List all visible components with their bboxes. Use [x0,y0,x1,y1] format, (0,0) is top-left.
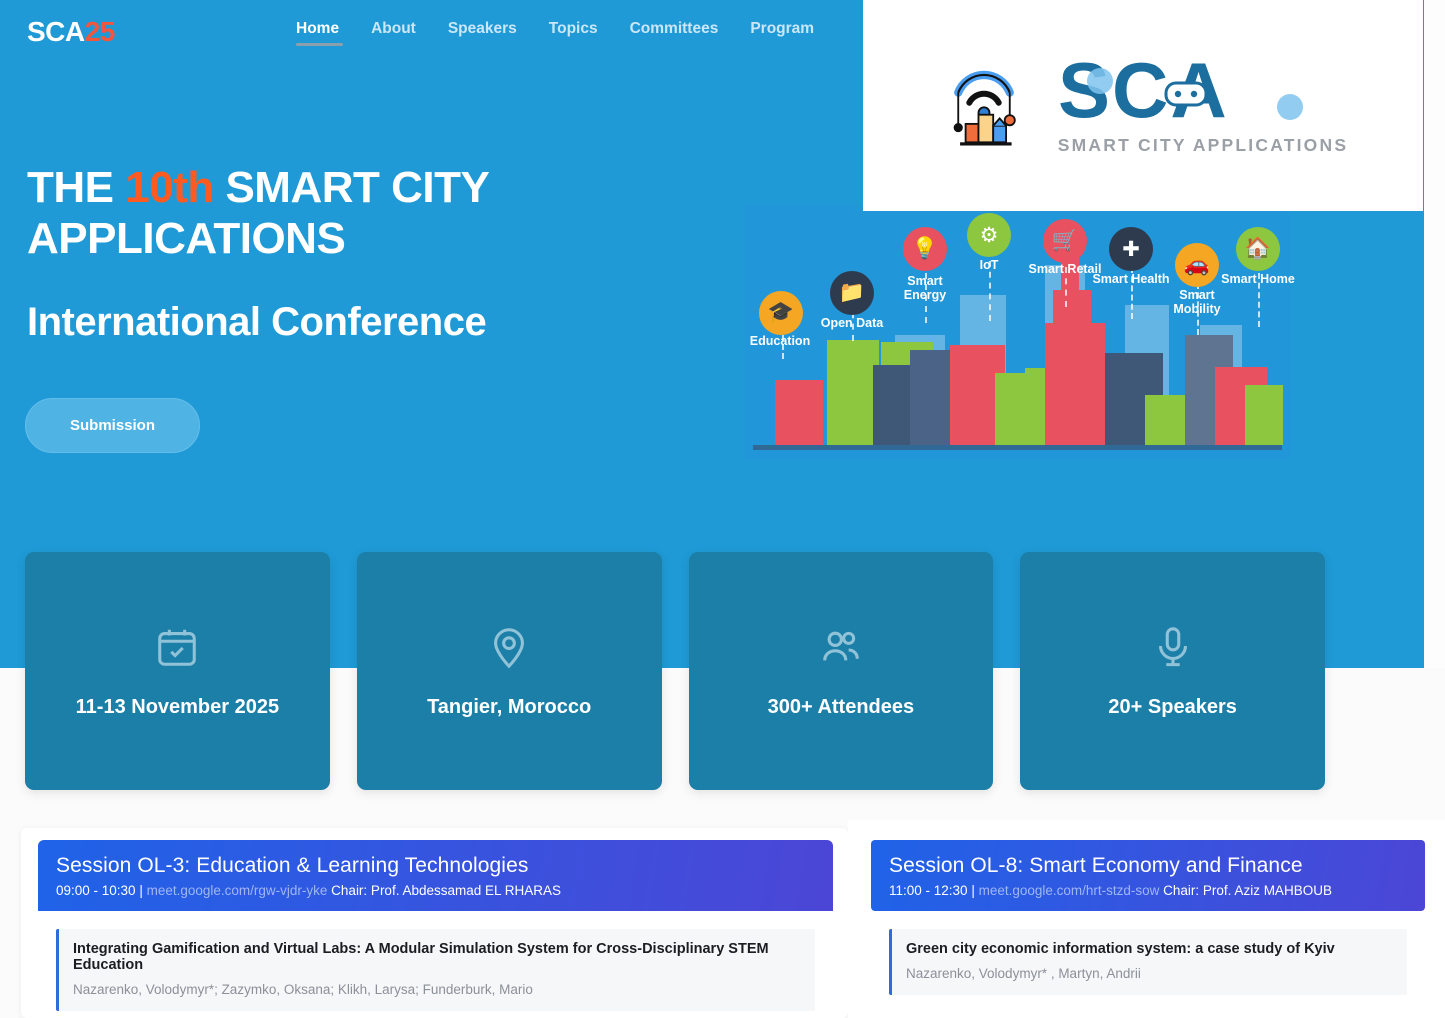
sca-wordmark-icon: SCA [1058,55,1348,133]
illustration-label-smart-mobility: Smart Mobility [1157,289,1237,317]
illustration-label-education: Education [740,335,820,349]
nav-list: Home About Speakers Topics Committees Pr… [296,20,846,46]
session-separator: | [968,883,979,898]
paper-authors: Nazarenko, Volodymyr*; Zazymko, Oksana; … [73,982,801,997]
session-panel-left: Session OL-3: Education & Learning Techn… [21,828,848,1018]
map-pin-icon [486,624,532,670]
session-time: 11:00 - 12:30 [889,883,968,898]
smart-city-wifi-icon [938,63,1030,148]
session-separator: | [136,883,147,898]
session-meta: 11:00 - 12:30 | meet.google.com/hrt-stzd… [889,883,1407,898]
paper-title: Integrating Gamification and Virtual Lab… [73,941,801,973]
illustration-label-smart-energy: Smart Energy [885,275,965,303]
session-header: Session OL-3: Education & Learning Techn… [38,840,833,911]
stats-row: 11-13 November 2025 Tangier, Morocco 300… [25,552,1325,792]
shopping-cart-icon: 🛒 [1043,219,1087,263]
session-meeting-link[interactable]: meet.google.com/rgw-vjdr-yke [147,883,328,898]
nav-item-home[interactable]: Home [296,20,359,46]
brand-logo[interactable]: SCA25 [27,16,115,48]
skyline-graphic [745,205,1290,460]
stat-card-speakers[interactable]: 20+ Speakers [1020,552,1325,790]
open-data-folder-icon: 📁 [830,271,874,315]
session-meeting-link[interactable]: meet.google.com/hrt-stzd-sow [979,883,1160,898]
medical-kit-icon: ✚ [1109,227,1153,271]
stat-card-dates[interactable]: 11-13 November 2025 [25,552,330,790]
nav-item-committees[interactable]: Committees [630,20,739,46]
session-title: Session OL-8: Smart Economy and Finance [889,854,1407,878]
session-header: Session OL-8: Smart Economy and Finance … [871,840,1425,911]
illustration-label-iot: IoT [949,259,1029,273]
sca-tagline: SMART CITY APPLICATIONS [1058,135,1348,156]
stat-card-location[interactable]: Tangier, Morocco [357,552,662,790]
brand-main-text: SCA [27,16,85,47]
illustration-label-smart-health: Smart Health [1091,273,1171,287]
stat-card-attendees[interactable]: 300+ Attendees [689,552,994,790]
stat-label-location: Tangier, Morocco [427,696,591,719]
session-time: 09:00 - 10:30 [56,883,136,898]
submission-button[interactable]: Submission [25,398,200,453]
nav-item-about[interactable]: About [371,20,436,46]
stat-label-dates: 11-13 November 2025 [76,696,279,719]
nav-item-program[interactable]: Program [750,20,834,46]
smart-city-illustration: 🎓 Education 📁 Open Data 💡 Smart Energy ⚙… [745,205,1290,460]
session-chair: Chair: Prof. Aziz MAHBOUB [1159,883,1332,898]
lightbulb-icon: 💡 [903,227,947,271]
car-icon: 🚗 [1175,243,1219,287]
hero-title-pre: THE [27,163,125,212]
graduation-cap-icon: 🎓 [759,291,803,335]
paper-title: Green city economic information system: … [906,941,1393,957]
users-icon [818,624,864,670]
stat-label-attendees: 300+ Attendees [768,696,915,719]
session-meta: 09:00 - 10:30 | meet.google.com/rgw-vjdr… [56,883,815,898]
illustration-label-smart-home: Smart Home [1218,273,1298,287]
sca-wordmark-block: SCA SMART CITY APPLICATIONS [1058,55,1348,156]
session-title: Session OL-3: Education & Learning Techn… [56,854,815,878]
paper-authors: Nazarenko, Volodymyr* , Martyn, Andrii [906,966,1393,981]
paper-item[interactable]: Green city economic information system: … [889,929,1407,995]
page-root: SCA25 Home About Speakers Topics Committ… [0,0,1445,1018]
nav-item-topics[interactable]: Topics [549,20,618,46]
brand-year-text: 25 [85,16,115,47]
session-card-ol3[interactable]: Session OL-3: Education & Learning Techn… [38,840,833,1011]
illustration-label-open-data: Open Data [812,317,892,331]
paper-item[interactable]: Integrating Gamification and Virtual Lab… [56,929,815,1011]
nav-item-speakers[interactable]: Speakers [448,20,537,46]
session-chair: Chair: Prof. Abdessamad EL RHARAS [327,883,561,898]
session-card-ol8[interactable]: Session OL-8: Smart Economy and Finance … [871,840,1425,995]
microphone-icon [1150,624,1196,670]
sca-logo-overlay-panel: SCA SMART CITY APPLICATIONS [863,0,1423,211]
home-icon: 🏠 [1236,227,1280,271]
hero-subtitle: International Conference [27,300,727,345]
hero-title-highlight: 10th [125,163,213,212]
stat-label-speakers: 20+ Speakers [1108,696,1236,719]
calendar-check-icon [154,624,200,670]
page-title: THE 10th SMART CITY APPLICATIONS [27,163,727,264]
iot-network-icon: ⚙ [967,213,1011,257]
session-panel-right: Session OL-8: Smart Economy and Finance … [848,820,1445,1018]
